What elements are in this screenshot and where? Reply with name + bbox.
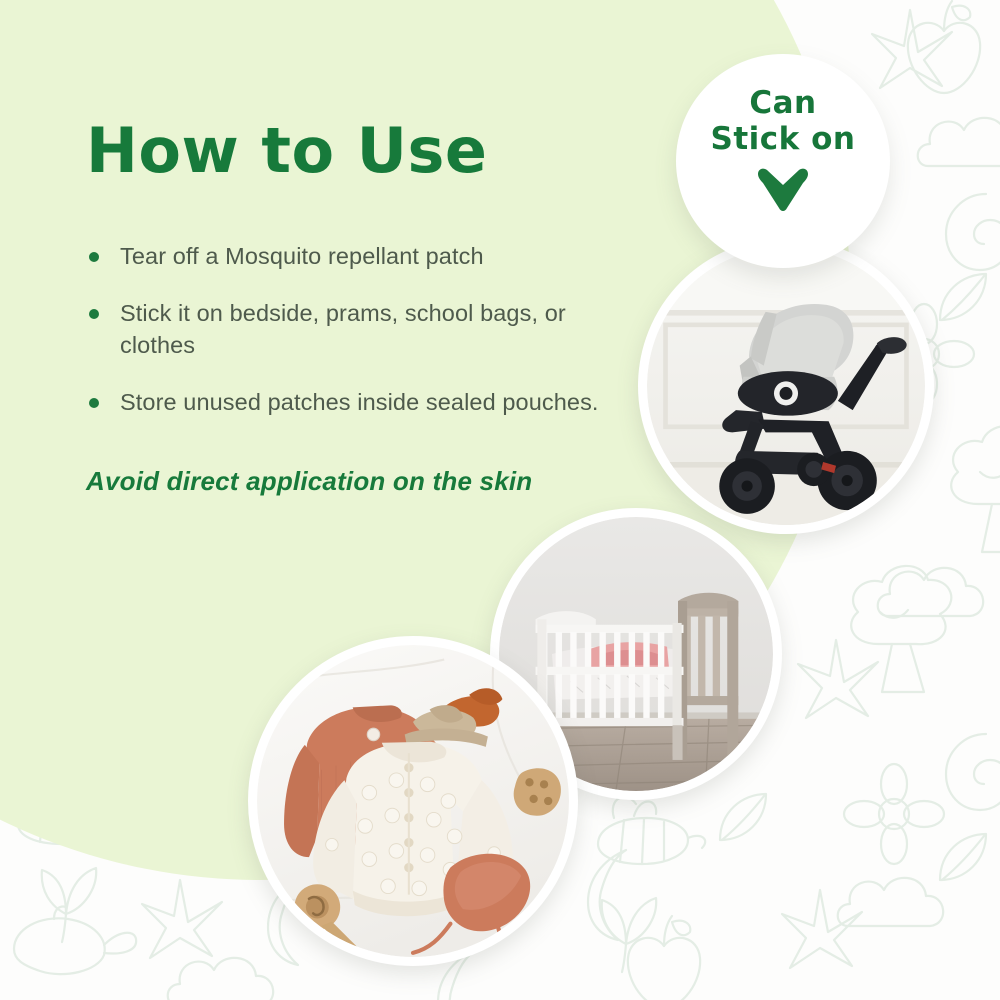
list-item: Store unused patches inside sealed pouch… (86, 387, 646, 418)
list-item: Tear off a Mosquito repellant patch (86, 241, 646, 272)
bullet-dot-icon (89, 309, 99, 319)
list-item: Stick it on bedside, prams, school bags,… (86, 298, 646, 361)
clothes-photo (248, 636, 578, 966)
step-text: Store unused patches inside sealed pouch… (120, 389, 599, 415)
badge-line-1: Can (749, 86, 816, 122)
instructions-panel: How to Use Tear off a Mosquito repellant… (86, 118, 646, 499)
chevron-down-icon (754, 168, 812, 214)
bullet-dot-icon (89, 398, 99, 408)
can-stick-on-badge: Can Stick on (676, 54, 890, 268)
page-title: How to Use (86, 118, 646, 183)
warning-note: Avoid direct application on the skin (86, 464, 646, 499)
step-text: Tear off a Mosquito repellant patch (120, 243, 484, 269)
poster-canvas: How to Use Tear off a Mosquito repellant… (0, 0, 1000, 1000)
stroller-photo (638, 238, 934, 534)
step-text: Stick it on bedside, prams, school bags,… (120, 300, 566, 357)
bullet-dot-icon (89, 252, 99, 262)
badge-line-2: Stick on (711, 122, 856, 158)
steps-list: Tear off a Mosquito repellant patch Stic… (86, 241, 646, 418)
